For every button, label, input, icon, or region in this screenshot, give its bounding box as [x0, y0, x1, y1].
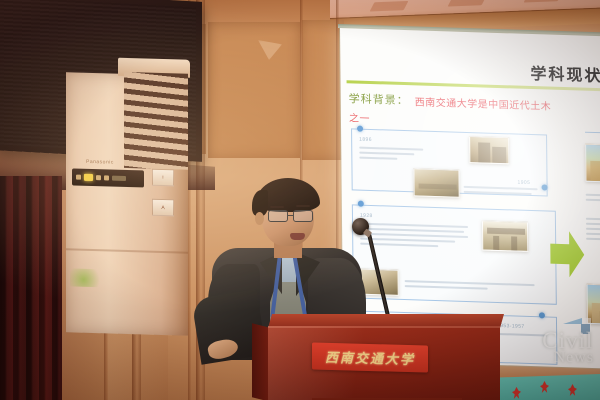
historic-photo-2	[413, 168, 459, 197]
air-conditioner: Panasonic ! A	[66, 72, 188, 335]
stage-curtain	[0, 176, 62, 400]
ac-warning-sticker: !	[152, 169, 174, 187]
timeline-dot	[539, 312, 545, 318]
ac-panel-seam	[66, 248, 188, 253]
lectern-plaque: 西南交通大学	[312, 342, 428, 372]
slide-subtitle-label: 学科背景：	[349, 90, 409, 108]
timeline-dot	[357, 126, 363, 132]
historic-photo-1	[469, 136, 509, 164]
flower-motif-icon	[540, 381, 549, 393]
timeline-text-lines	[464, 186, 538, 198]
timeline-year: 1953-1957	[497, 323, 525, 330]
lectern-plaque-text: 西南交通大学	[325, 347, 415, 368]
ac-brand-label: Panasonic	[86, 159, 114, 166]
campus-photo-1	[585, 144, 600, 183]
wall-panel-upper-2	[208, 22, 300, 158]
column-text-lines	[586, 194, 600, 205]
flower-motif-icon	[568, 384, 577, 396]
mouth	[290, 233, 305, 240]
slide-subtitle-line1: 西南交通大学是中国近代土木	[415, 93, 600, 114]
eyeglasses	[268, 210, 316, 222]
newspaper-icon	[562, 316, 592, 338]
ac-logo-icon	[70, 268, 104, 287]
ac-control-panel[interactable]	[72, 168, 144, 187]
timeline-text-lines	[359, 147, 423, 164]
historic-photo-3	[482, 220, 528, 251]
slide-subtitle-line2: 之一	[349, 109, 370, 125]
ear	[255, 212, 264, 225]
column-text-lines	[586, 218, 600, 244]
right-arrow-icon	[550, 231, 584, 278]
timeline-year: 1905	[518, 180, 531, 186]
lectern: 西南交通大学	[268, 314, 500, 400]
microphone	[352, 218, 416, 328]
flower-motif-icon	[512, 387, 521, 399]
timeline-dot	[542, 184, 548, 190]
slide-title: 学科现状	[530, 60, 600, 86]
timeline-year: 1896	[359, 137, 372, 143]
ac-rating-sticker: A	[152, 199, 174, 217]
column-rule	[585, 132, 600, 134]
ac-vent-louvers	[124, 72, 188, 170]
photo-scene: CSTC Panasonic ! A 学科现状 学科背景： 西南交通大学是中国近…	[0, 0, 600, 400]
